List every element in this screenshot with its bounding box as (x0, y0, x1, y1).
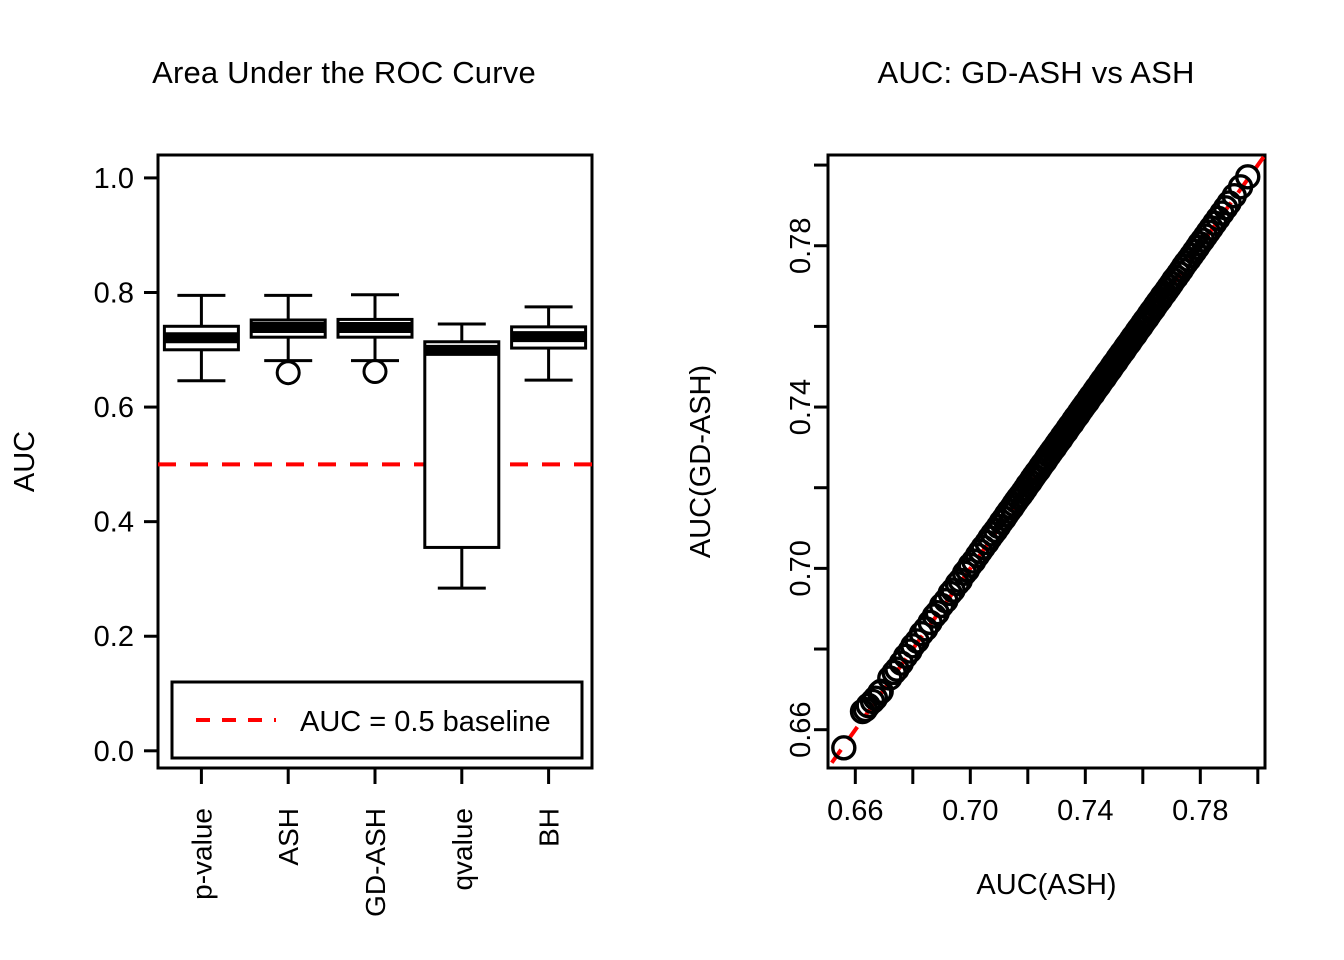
boxplot-canvas: 0.00.20.40.60.81.0AUCp-valueASHGD-ASHqva… (0, 0, 672, 960)
x-axis-tick-label: 0.78 (1172, 795, 1228, 827)
x-axis-category-label: GD-ASH (360, 808, 391, 917)
boxplot-box-ASH (251, 295, 325, 383)
box-iqr (425, 342, 499, 548)
scatter-plot-area (799, 115, 1294, 809)
y-axis-title: AUC (9, 431, 41, 492)
y-axis-tick-label: 0.2 (94, 621, 134, 653)
scatter-panel: AUC: GD-ASH vs ASH 0.660.700.740.780.660… (672, 0, 1344, 960)
boxplot-box-p-value (164, 295, 238, 380)
y-axis-tick-label: 0.6 (94, 392, 134, 424)
x-axis-category-label: p-value (186, 808, 217, 900)
scatter-canvas: 0.660.700.740.780.660.700.740.78AUC(ASH)… (672, 0, 1344, 960)
x-axis-category-label: BH (534, 808, 565, 847)
y-axis-tick-label: 0.8 (94, 277, 134, 309)
x-axis-tick-label: 0.66 (827, 795, 883, 827)
y-axis-tick-label: 1.0 (94, 163, 134, 195)
box-outlier (277, 362, 299, 384)
x-axis-category-label: ASH (273, 808, 304, 866)
roc-auc-figure: Area Under the ROC Curve 0.00.20.40.60.8… (0, 0, 1344, 960)
legend-label: AUC = 0.5 baseline (300, 706, 551, 738)
y-axis-tick-label: 0.70 (785, 540, 817, 596)
y-axis-tick-label: 0.78 (785, 218, 817, 274)
scatter-point (833, 737, 855, 759)
x-axis-category-label: qvalue (447, 808, 478, 891)
boxplot-frame (158, 155, 592, 768)
y-axis-tick-label: 0.66 (785, 701, 817, 757)
boxplot-box-GD-ASH (338, 295, 412, 383)
x-axis-title: AUC(ASH) (976, 869, 1116, 901)
box-outlier (364, 361, 386, 383)
x-axis-tick-label: 0.70 (942, 795, 998, 827)
boxplot-box-qvalue (425, 324, 499, 588)
y-axis-title: AUC(GD-ASH) (685, 365, 717, 558)
y-axis-tick-label: 0.74 (785, 379, 817, 435)
y-axis-tick-label: 0.4 (94, 507, 134, 539)
x-axis-tick-label: 0.74 (1057, 795, 1113, 827)
y-axis-tick-label: 0.0 (94, 736, 134, 768)
boxplot-box-BH (512, 307, 586, 380)
boxplot-panel: Area Under the ROC Curve 0.00.20.40.60.8… (0, 0, 672, 960)
